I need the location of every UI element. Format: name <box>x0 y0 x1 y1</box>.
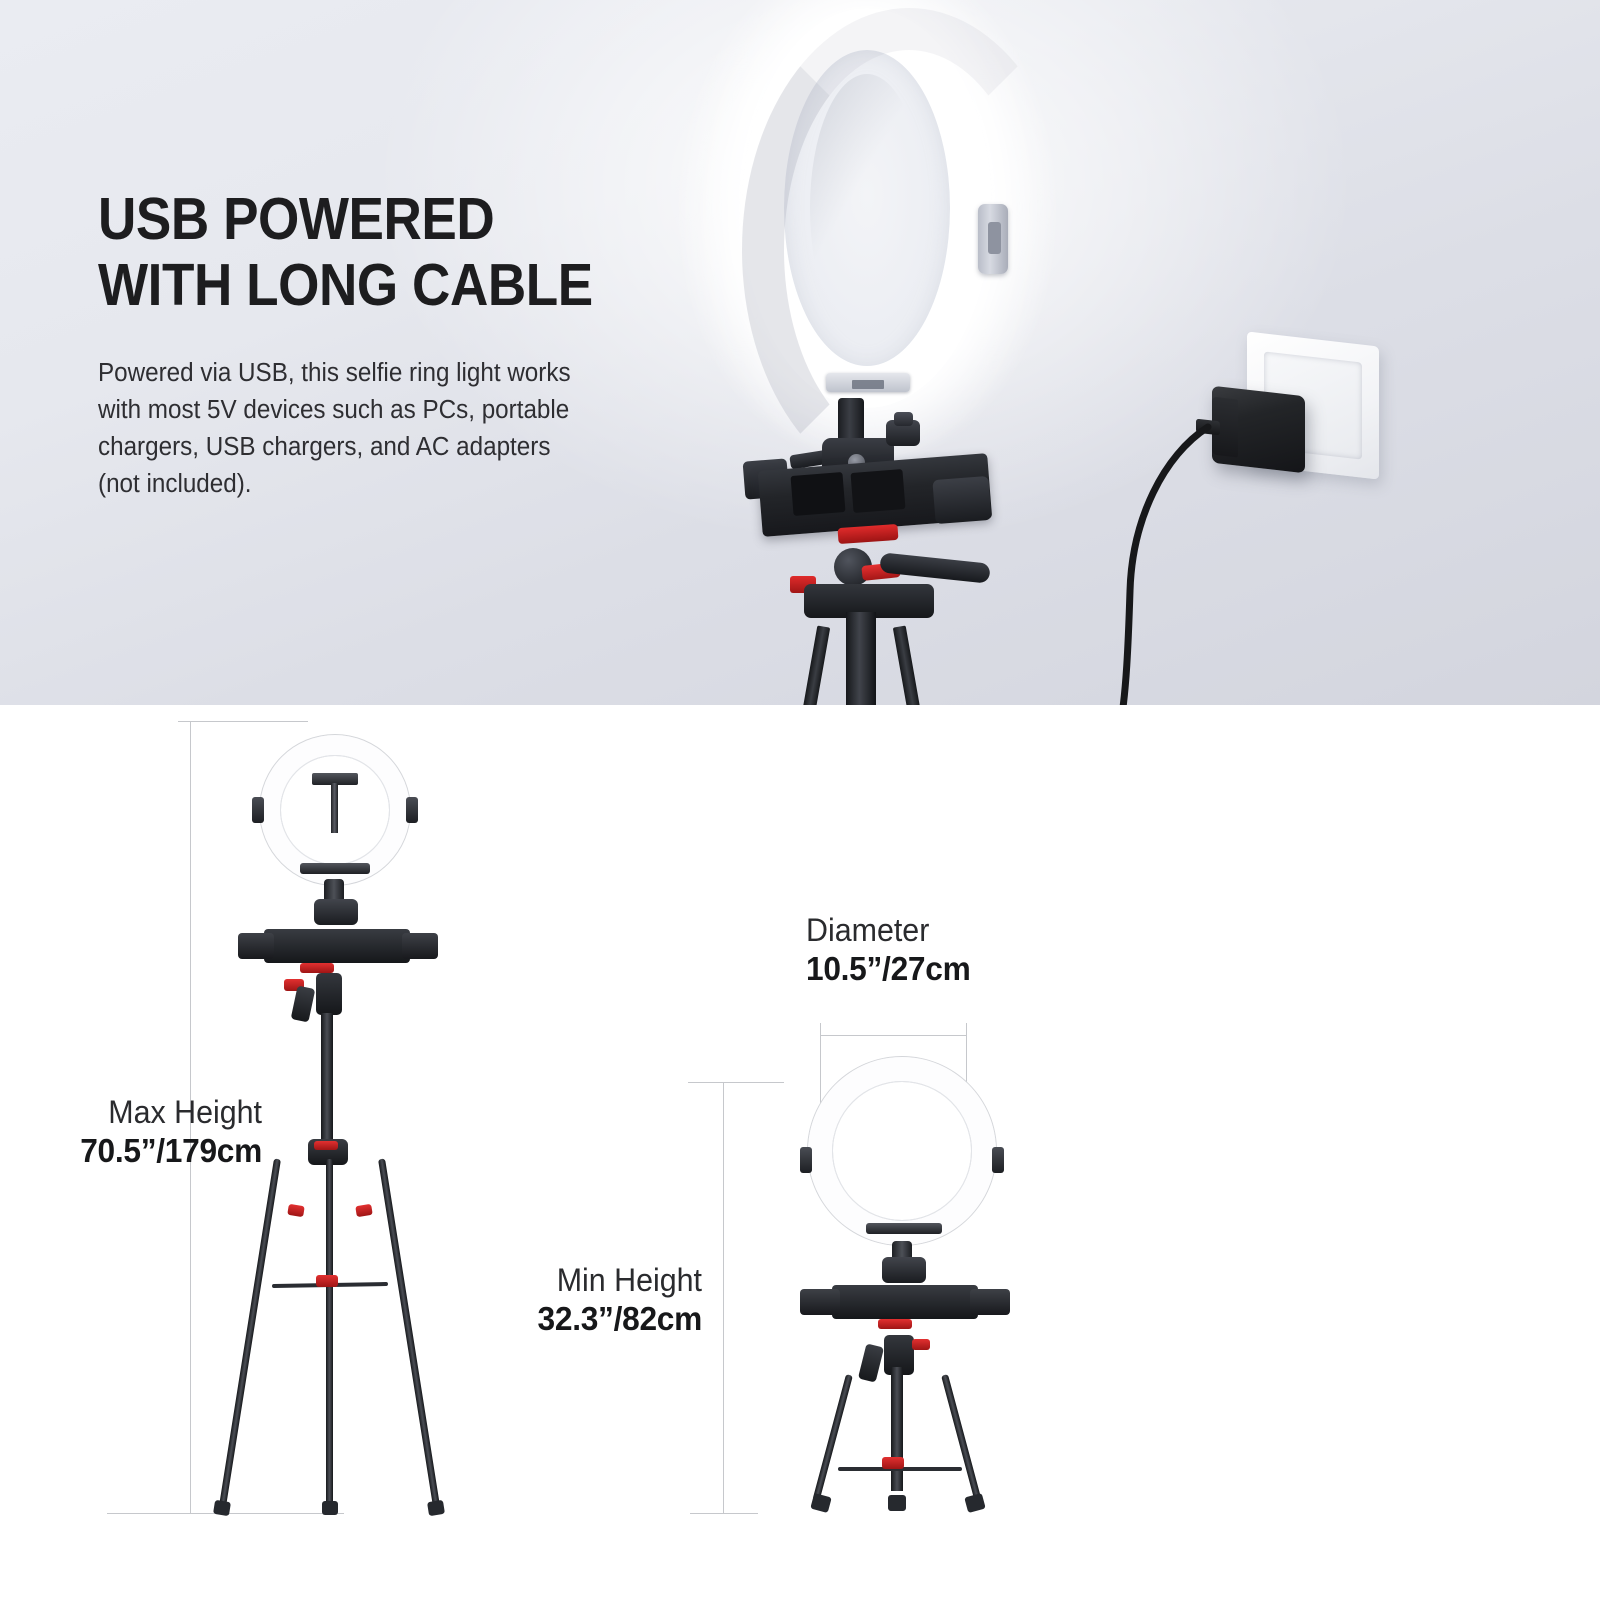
tripod-foot-right-2 <box>964 1493 986 1513</box>
max-height-label-group: Max Height 70.5”/179cm <box>0 1093 262 1170</box>
min-height-value: 32.3”/82cm <box>450 1299 702 1338</box>
tripod-foot-center <box>322 1501 338 1515</box>
ring-light-outline-2 <box>808 1057 996 1245</box>
tripod-leg-art-right <box>378 1158 440 1507</box>
tripod-foot-left-2 <box>810 1493 832 1513</box>
ring-brand-mark <box>852 380 884 389</box>
ring-clip-right <box>406 797 418 823</box>
holder-jaw-right-art <box>402 933 438 959</box>
tripod-max-height-illustration <box>238 723 578 1523</box>
ring-light-ring <box>742 8 992 408</box>
holder-jaw-left-art <box>238 933 274 959</box>
pan-handle-art <box>291 986 316 1023</box>
shoulder-red-lock <box>314 1141 338 1150</box>
red-quick-release-lever <box>838 524 899 544</box>
usb-powered-feature-panel: USB POWERED WITH LONG CABLE Powered via … <box>0 0 1600 705</box>
ring-inner-shading <box>810 74 924 342</box>
brace-red-lock-2 <box>882 1457 904 1469</box>
diameter-label-group: Diameter 10.5”/27cm <box>806 911 977 988</box>
tripod-leg-right <box>893 626 920 705</box>
min-height-label-group: Min Height 32.3”/82cm <box>440 1261 702 1338</box>
tripod-leg-art-center <box>326 1159 333 1511</box>
ring-clip-left <box>252 797 264 823</box>
center-column-art-2 <box>891 1367 903 1491</box>
pan-handle <box>879 552 990 583</box>
holder-jaw-right-art-2 <box>970 1289 1010 1315</box>
tripod-head-art <box>316 973 342 1015</box>
ring-clip-right-2 <box>992 1147 1004 1173</box>
red-lever-art-3 <box>878 1319 912 1329</box>
leg-red-lock-left <box>287 1204 305 1217</box>
tripod-foot-center-2 <box>888 1495 906 1511</box>
ring-control-bar-art <box>300 863 370 874</box>
tilt-knob-cap <box>894 412 913 426</box>
min-height-tick-bottom <box>690 1513 758 1514</box>
product-details-panel: Max Height 70.5”/179cm <box>0 705 1600 1600</box>
tripod-leg-art-left <box>219 1158 281 1507</box>
power-cable <box>1060 415 1240 705</box>
min-height-label: Min Height <box>453 1261 702 1299</box>
ring-control-bar-art-2 <box>866 1223 942 1234</box>
tripod-min-height-illustration <box>790 1057 1110 1517</box>
phone-holder-art <box>264 929 410 963</box>
head-red-lock-2 <box>912 1339 930 1350</box>
min-height-guide-line <box>723 1082 724 1513</box>
tripod-leg-art-right-2 <box>941 1374 981 1501</box>
headline-line-2: WITH LONG CABLE <box>98 252 656 318</box>
ring-light-product-photo <box>742 8 992 408</box>
leg-red-lock-right <box>355 1204 373 1217</box>
ball-head-art <box>314 899 358 925</box>
phone-holder-right-jaw <box>932 476 991 524</box>
min-height-tick-top <box>688 1082 784 1083</box>
ring-side-mount-slot <box>988 222 1001 254</box>
pan-handle-art-2 <box>858 1343 884 1382</box>
phone-holder-art-2 <box>832 1285 978 1319</box>
holder-jaw-left-art-2 <box>800 1289 840 1315</box>
max-height-tick-top <box>178 721 308 722</box>
brace-red-lock <box>316 1275 338 1287</box>
feature-headline: USB POWERED WITH LONG CABLE <box>98 186 718 318</box>
ball-head-art-2 <box>882 1257 926 1283</box>
diameter-label: Diameter <box>806 911 969 949</box>
phone-holder-slot-2 <box>851 469 906 513</box>
phone-holder-slot-1 <box>791 472 846 516</box>
diameter-guide-line <box>820 1035 966 1036</box>
inner-clip-stem <box>331 783 338 833</box>
tripod-head-assembly-photo <box>730 398 1020 705</box>
red-lever-art-1 <box>300 963 334 973</box>
headline-line-1: USB POWERED <box>98 186 656 252</box>
max-height-value: 70.5”/179cm <box>10 1131 262 1170</box>
tripod-leg-art-left-2 <box>812 1374 852 1501</box>
center-column-art <box>321 1013 333 1149</box>
tripod-center-column <box>846 612 876 705</box>
tripod-leg-left <box>803 626 830 705</box>
tripod-foot-left <box>213 1500 231 1516</box>
feature-description: Powered via USB, this selfie ring light … <box>98 355 592 503</box>
ring-inner-edge-2 <box>832 1081 972 1221</box>
tripod-foot-right <box>427 1500 445 1516</box>
ring-clip-left-2 <box>800 1147 812 1173</box>
max-height-label: Max Height <box>13 1093 262 1131</box>
diameter-value: 10.5”/27cm <box>806 949 970 988</box>
